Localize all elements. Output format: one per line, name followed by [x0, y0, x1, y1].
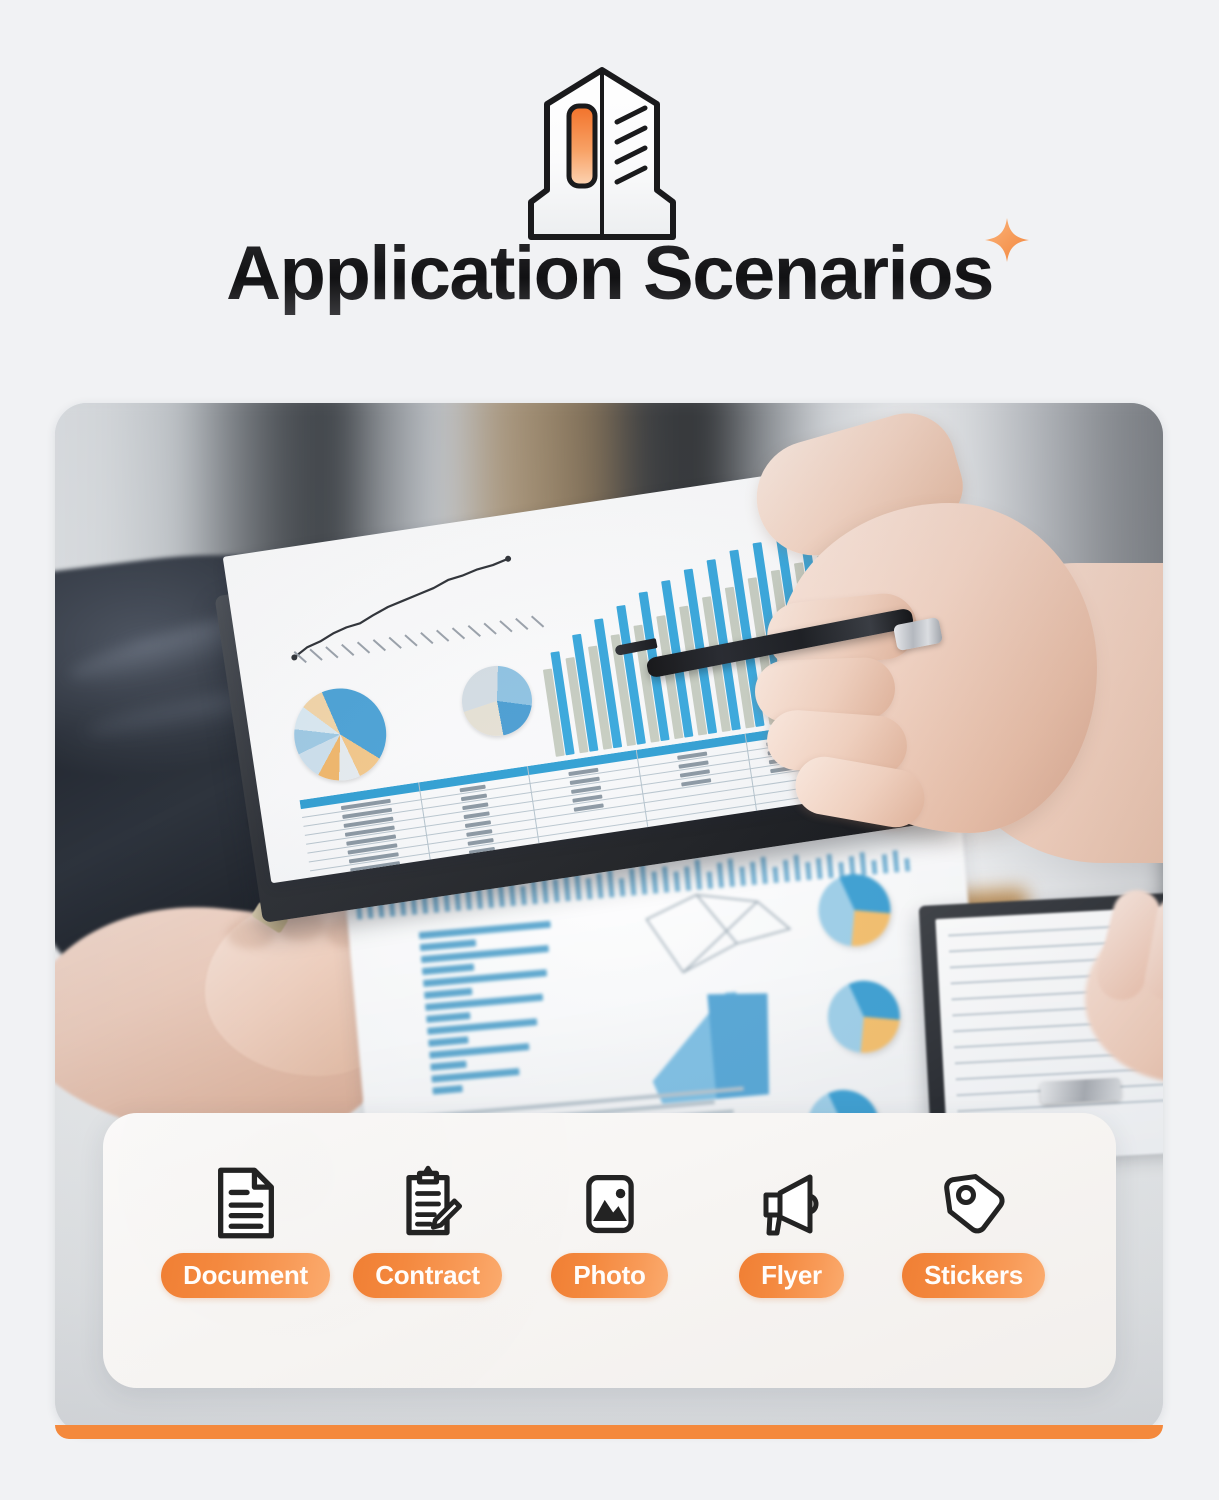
report-pie-chart-large — [288, 682, 393, 787]
page-header: Application Scenarios — [0, 0, 1219, 390]
scenario-chip-label: Stickers — [902, 1253, 1045, 1298]
scenario-chip-row: Document — [103, 1165, 1116, 1298]
photo-image-icon — [574, 1165, 646, 1241]
application-scenario-photo: Document — [55, 403, 1163, 1433]
desk-report-network-diagram — [636, 876, 804, 990]
contract-clipboard-pencil-icon — [392, 1165, 464, 1241]
scenario-chip-document[interactable]: Document — [155, 1165, 337, 1298]
scenario-chip-contract[interactable]: Contract — [337, 1165, 519, 1298]
megaphone-flyer-icon — [756, 1165, 828, 1241]
hero-accent-underline — [55, 1425, 1163, 1439]
application-scenarios-page: Application Scenarios — [0, 0, 1219, 1500]
building-logo-icon — [495, 62, 710, 247]
page-title: Application Scenarios — [226, 231, 993, 316]
desk-report-pie-chart — [816, 871, 894, 949]
scenario-chip-flyer[interactable]: Flyer — [701, 1165, 883, 1298]
scenario-chip-label: Flyer — [739, 1253, 844, 1298]
scenario-chip-panel: Document — [103, 1113, 1116, 1388]
desk-report-cone-chart-front — [707, 989, 776, 1099]
secondary-clipboard-clip — [1040, 1078, 1121, 1104]
scenario-chip-photo[interactable]: Photo — [519, 1165, 701, 1298]
scenario-chip-stickers[interactable]: Stickers — [883, 1165, 1065, 1298]
page-title-row: Application Scenarios — [0, 236, 1219, 312]
desk-report-pie-chart — [825, 978, 903, 1056]
desk-report-horizontal-bars — [419, 916, 623, 1102]
scenario-chip-label: Document — [161, 1253, 330, 1298]
scenario-chip-label: Contract — [353, 1253, 502, 1298]
scenario-chip-label: Photo — [551, 1253, 667, 1298]
document-icon — [210, 1165, 282, 1241]
price-tag-stickers-icon — [938, 1165, 1010, 1241]
report-pie-chart-small — [457, 661, 537, 741]
sparkle-icon — [983, 216, 1031, 264]
